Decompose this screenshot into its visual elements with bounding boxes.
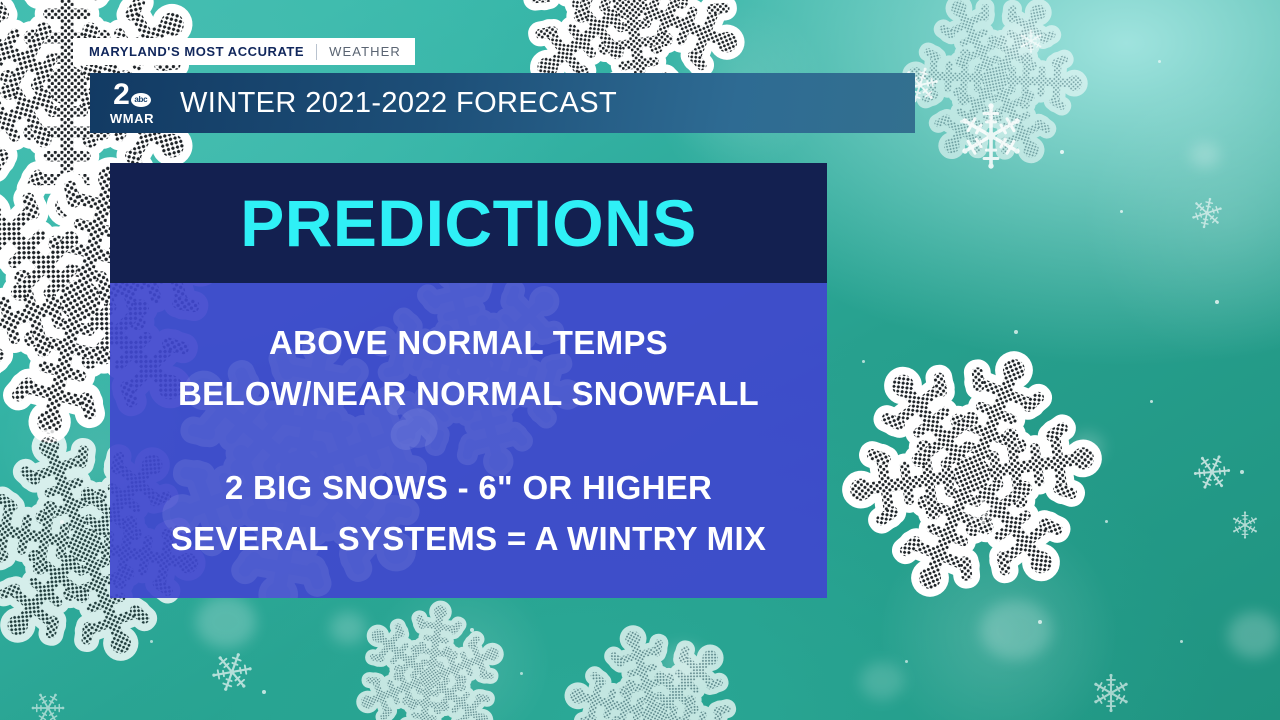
sparkle-dot: [1014, 330, 1018, 334]
bokeh-spot: [1190, 142, 1220, 168]
bokeh-spot: [980, 600, 1052, 660]
bokeh-spot: [860, 662, 904, 700]
snowflake-icon: [955, 100, 1027, 172]
snowflake-icon: [30, 690, 66, 720]
logo-callsign: WMAR: [110, 111, 154, 126]
snowflake-icon: [1190, 196, 1224, 230]
sparkle-dot: [1120, 210, 1123, 213]
prediction-line: SEVERAL SYSTEMS = A WINTRY MIX: [110, 513, 827, 564]
eyebrow-secondary-text: WEATHER: [329, 44, 401, 59]
sparkle-dot: [520, 672, 523, 675]
page-title: WINTER 2021-2022 FORECAST: [180, 87, 617, 120]
eyebrow-divider: [316, 44, 317, 60]
predictions-heading: PREDICTIONS: [240, 190, 697, 256]
snowflake-icon: [968, 498, 998, 528]
sparkle-dot: [1158, 60, 1161, 63]
predictions-header: PREDICTIONS: [110, 163, 827, 283]
sparkle-dot: [1180, 640, 1183, 643]
sparkle-dot: [262, 690, 266, 694]
logo-channel-number: 2: [113, 80, 129, 110]
snowflake-icon: [560, 620, 750, 720]
snowflake-icon: [1090, 672, 1132, 714]
snowflake-icon: [838, 340, 1106, 608]
wmar-logo: 2 abc WMAR: [102, 80, 162, 126]
sparkle-dot: [1215, 300, 1219, 304]
snowflake-icon: [1230, 510, 1260, 540]
abc-network-icon: abc: [131, 93, 151, 107]
predictions-spacer: [110, 420, 827, 462]
sparkle-dot: [905, 660, 908, 663]
prediction-line: ABOVE NORMAL TEMPS: [110, 317, 827, 368]
bokeh-spot: [1228, 612, 1280, 658]
snowflake-icon: [1192, 452, 1232, 492]
predictions-list: ABOVE NORMAL TEMPS BELOW/NEAR NORMAL SNO…: [110, 317, 827, 564]
snowflake-icon: [1018, 28, 1044, 54]
prediction-line: 2 BIG SNOWS - 6" OR HIGHER: [110, 462, 827, 513]
station-eyebrow-banner: MARYLAND'S MOST ACCURATE WEATHER: [73, 38, 415, 65]
sparkle-dot: [1038, 620, 1042, 624]
predictions-body: ABOVE NORMAL TEMPS BELOW/NEAR NORMAL SNO…: [110, 283, 827, 598]
logo-mark: 2 abc: [113, 80, 151, 110]
forecast-title-bar: 2 abc WMAR WINTER 2021-2022 FORECAST: [90, 73, 915, 133]
predictions-panel: PREDICTIONS ABOVE NORMAL TEMPS BELOW/NEA…: [110, 163, 827, 598]
sparkle-dot: [1240, 470, 1244, 474]
prediction-line: BELOW/NEAR NORMAL SNOWFALL: [110, 368, 827, 419]
eyebrow-primary-text: MARYLAND'S MOST ACCURATE: [89, 44, 304, 59]
sparkle-dot: [1150, 400, 1153, 403]
snowflake-icon: [350, 598, 510, 720]
snowflake-icon: [210, 650, 254, 694]
